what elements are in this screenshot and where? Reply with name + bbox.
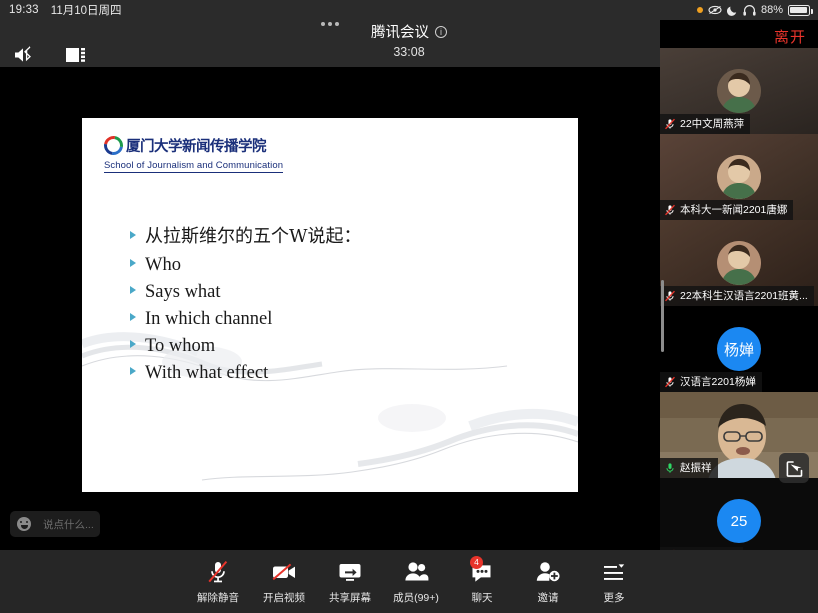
avatar	[717, 155, 761, 199]
more-menu-icon	[601, 559, 627, 585]
participant-tile[interactable]: 22中文周燕萍	[660, 48, 818, 134]
pencil-annotate-icon	[786, 460, 803, 477]
orange-dot-icon	[697, 7, 703, 13]
slide-bullet-label: To whom	[145, 334, 215, 358]
slide-bullet: With what effect	[130, 361, 362, 385]
avatar	[717, 69, 761, 113]
status-time: 19:33	[9, 4, 39, 16]
participant-scrollbar[interactable]	[661, 280, 665, 352]
participant-name: 22本科生汉语言2201班黄...	[680, 288, 808, 303]
slide-bullet: To whom	[130, 334, 362, 358]
logo-chinese-text: 厦门大学新闻传播学院	[126, 140, 266, 155]
slide-bullet: Says what	[130, 280, 362, 304]
bullet-triangle-icon	[130, 340, 136, 348]
chat-unread-badge: 4	[470, 556, 483, 569]
leave-meeting-button[interactable]: 离开	[774, 26, 806, 47]
participant-nametag: 赵振祥	[660, 458, 718, 479]
slide-heading-line: 从拉斯维尔的五个W说起：	[130, 223, 362, 250]
participant-tile[interactable]: 25137****3325	[660, 478, 818, 550]
participant-name: 汉语言2201杨婵	[680, 374, 756, 389]
slide-bullet: Who	[130, 253, 362, 277]
participant-panel[interactable]: 22中文周燕萍本科大一新闻2201唐娜22本科生汉语言2201班黄...杨婵汉语…	[660, 48, 818, 550]
slide-content: 从拉斯维尔的五个W说起： Who Says what In which chan…	[130, 223, 362, 388]
chat-bubble-icon: 4	[469, 559, 495, 585]
chat-button[interactable]: 4 聊天	[449, 559, 515, 605]
camera-off-icon	[270, 559, 298, 585]
participants-icon	[402, 559, 430, 585]
battery-percent: 88%	[761, 4, 783, 16]
mic-muted-icon	[664, 204, 676, 216]
share-screen-button[interactable]: 共享屏幕	[317, 559, 383, 605]
participant-name: 本科大一新闻2201唐娜	[680, 202, 787, 217]
meeting-top-bar	[0, 20, 660, 67]
unmute-button[interactable]: 解除静音	[185, 559, 251, 605]
moon-icon	[727, 5, 738, 16]
share-screen-icon	[337, 559, 363, 585]
avatar	[717, 241, 761, 285]
chat-input[interactable]: 说点什么...	[10, 511, 100, 537]
slide-bullet-label: Says what	[145, 280, 221, 304]
toolbar-label: 更多	[604, 590, 625, 605]
participant-nametag: 22本科生汉语言2201班黄...	[660, 286, 814, 307]
system-status-bar: 19:33 11月10日周四 88%	[0, 0, 818, 20]
toolbar-label: 开启视频	[263, 590, 305, 605]
status-date: 11月10日周四	[51, 2, 122, 18]
slide-bullet-label: Who	[145, 253, 181, 277]
logo-english-text: School of Journalism and Communication	[104, 160, 283, 173]
emoji-icon[interactable]	[17, 517, 31, 531]
presentation-slide: 厦门大学新闻传播学院 School of Journalism and Comm…	[82, 118, 578, 492]
avatar: 25	[717, 499, 761, 543]
battery-icon	[788, 5, 810, 16]
toolbar-label: 成员(99+)	[393, 590, 439, 605]
mic-muted-icon	[205, 559, 231, 585]
drag-handle-dots[interactable]	[321, 22, 339, 26]
eye-off-icon	[708, 5, 722, 15]
annotation-button[interactable]	[779, 453, 809, 483]
toolbar-items: 解除静音 开启视频	[185, 559, 647, 605]
logo-ring-icon	[100, 132, 126, 158]
bullet-triangle-icon	[130, 286, 136, 294]
meeting-app: 19:33 11月10日周四 88%	[0, 0, 818, 613]
slide-heading: 从拉斯维尔的五个W说起：	[145, 223, 362, 250]
participant-tile[interactable]: 杨婵汉语言2201杨婵	[660, 306, 818, 392]
toolbar-label: 解除静音	[197, 590, 239, 605]
chat-input-placeholder: 说点什么...	[43, 517, 94, 532]
slide-bullet-label: In which channel	[145, 307, 272, 331]
bullet-triangle-icon	[130, 367, 136, 375]
status-right-icons: 88%	[697, 4, 810, 16]
mic-muted-icon	[664, 290, 676, 302]
invite-user-icon	[534, 559, 562, 585]
toolbar-label: 邀请	[538, 590, 559, 605]
invite-button[interactable]: 邀请	[515, 559, 581, 605]
participant-tile[interactable]: 本科大一新闻2201唐娜	[660, 134, 818, 220]
bullet-triangle-icon	[130, 231, 136, 239]
avatar: 杨婵	[717, 327, 761, 371]
participant-nametag: 22中文周燕萍	[660, 114, 750, 135]
meeting-toolbar: 解除静音 开启视频	[0, 550, 818, 613]
shared-screen-stage[interactable]: 厦门大学新闻传播学院 School of Journalism and Comm…	[0, 67, 660, 550]
toolbar-label: 聊天	[472, 590, 493, 605]
participant-name: 22中文周燕萍	[680, 116, 744, 131]
start-video-button[interactable]: 开启视频	[251, 559, 317, 605]
mic-on-icon	[664, 462, 676, 474]
participants-button[interactable]: 成员(99+)	[383, 559, 449, 605]
bullet-triangle-icon	[130, 313, 136, 321]
more-button[interactable]: 更多	[581, 559, 647, 605]
participant-name: 赵振祥	[680, 460, 712, 475]
bullet-triangle-icon	[130, 259, 136, 267]
participant-nametag: 本科大一新闻2201唐娜	[660, 200, 793, 221]
headphone-icon	[743, 5, 756, 16]
mic-muted-icon	[664, 118, 676, 130]
mic-muted-icon	[664, 376, 676, 388]
slide-bullet: In which channel	[130, 307, 362, 331]
participant-nametag: 汉语言2201杨婵	[660, 372, 762, 393]
toolbar-label: 共享屏幕	[329, 590, 371, 605]
university-logo: 厦门大学新闻传播学院 School of Journalism and Comm…	[104, 136, 283, 173]
slide-bullet-label: With what effect	[145, 361, 268, 385]
participant-tile[interactable]: 22本科生汉语言2201班黄...	[660, 220, 818, 306]
